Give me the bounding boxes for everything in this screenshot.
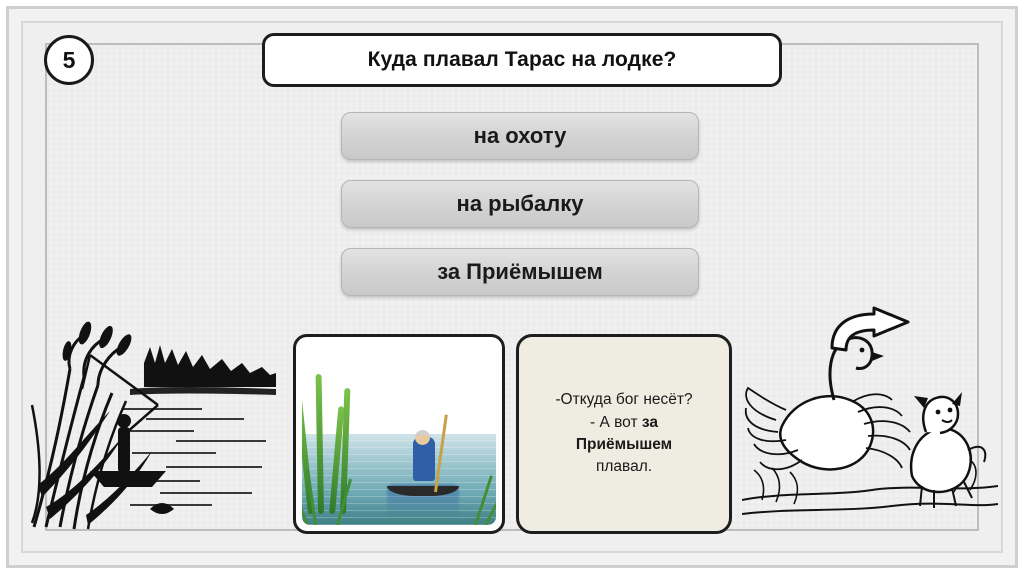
quote-line-2-prefix: - А вот: [590, 414, 642, 431]
arrow-right-icon: [828, 306, 914, 362]
answer-option-3-label: за Приёмышем: [437, 259, 603, 285]
quote-line-1: -Откуда бог несёт?: [555, 389, 692, 411]
arrow-outline-icon: [828, 306, 914, 362]
quote-line-2: - А вот за: [555, 412, 692, 434]
answer-option-1-label: на охоту: [474, 123, 567, 149]
question-box: Куда плавал Тарас на лодке?: [262, 33, 782, 87]
answer-option-2[interactable]: на рыбалку: [341, 180, 699, 228]
answer-option-1[interactable]: на охоту: [341, 112, 699, 160]
answer-list: на охоту на рыбалку за Приёмышем: [341, 112, 699, 316]
question-text: Куда плавал Тарас на лодке?: [368, 48, 677, 72]
slide-root: 5 Куда плавал Тарас на лодке? на охоту н…: [0, 0, 1024, 574]
illustration-left-fisherman: [26, 285, 281, 530]
quote-line-4: плавал.: [555, 456, 692, 478]
illustration-sky: [302, 343, 496, 438]
slide-number-text: 5: [63, 47, 76, 74]
quote-card: -Откуда бог несёт? - А вот за Приёмышем …: [516, 334, 732, 534]
fisherman-lake-drawing-icon: [26, 285, 281, 530]
quote-line-3: Приёмышем: [555, 434, 692, 456]
answer-option-2-label: на рыбалку: [457, 191, 584, 217]
illustration-center-image: [302, 343, 496, 525]
quote-text: -Откуда бог несёт? - А вот за Приёмышем …: [555, 389, 692, 479]
illustration-card-center: [293, 334, 505, 534]
quote-line-2-bold: за: [642, 414, 658, 431]
answer-option-3[interactable]: за Приёмышем: [341, 248, 699, 296]
slide-number-badge: 5: [44, 35, 94, 85]
